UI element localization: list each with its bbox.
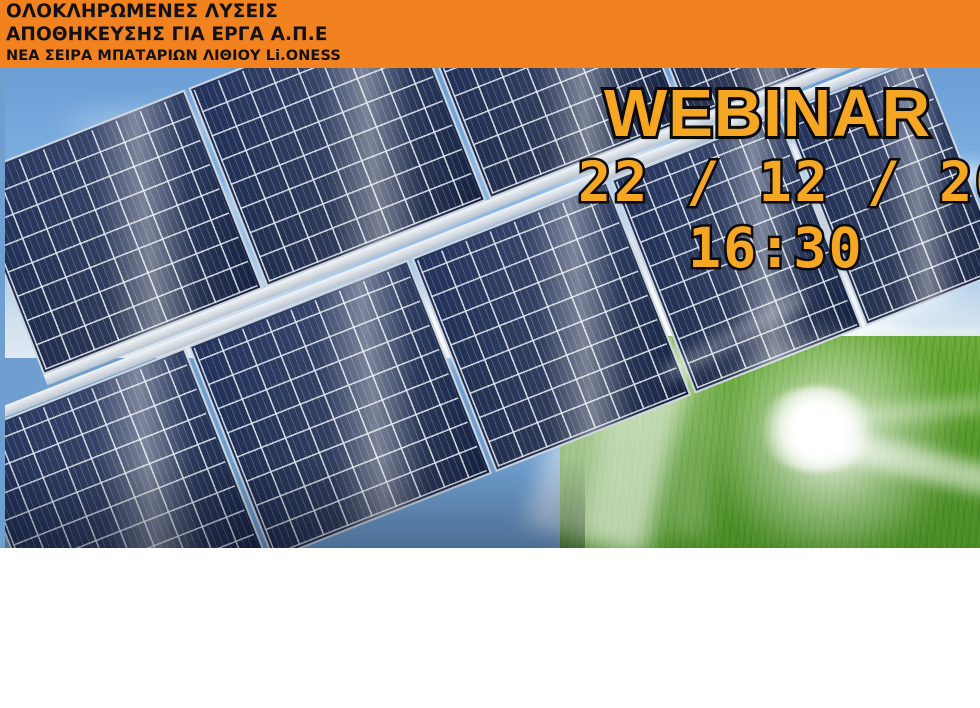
webinar-time: 16:30 <box>688 216 864 280</box>
webinar-poster: ΟΛΟΚΛΗΡΩΜΕΝΕΣ ΛΥΣΕΙΣ ΑΠΟΘΗΚΕΥΣΗΣ ΓΙΑ ΕΡΓ… <box>0 0 980 708</box>
webinar-date: 22 / 12 / 20 <box>578 150 980 214</box>
header-line-3: ΝΕΑ ΣΕΙΡΑ ΜΠΑΤΑΡΙΩΝ ΛΙΘΙΟΥ Li.ONESS <box>6 48 341 64</box>
webinar-title: WEBINAR <box>604 75 931 152</box>
header-line-1: ΟΛΟΚΛΗΡΩΜΕΝΕΣ ΛΥΣΕΙΣ <box>6 1 278 22</box>
hero-text-overlay: WEBINAR 22 / 12 / 20 16:30 <box>0 68 980 548</box>
header-line-2: ΑΠΟΘΗΚΕΥΣΗΣ ΓΙΑ ΕΡΓΑ Α.Π.Ε <box>6 24 328 45</box>
logo-footer: NA NO DO MI NanoDomi Συμβουλευτικές Υπηρ… <box>0 548 980 708</box>
header-banner: ΟΛΟΚΛΗΡΩΜΕΝΕΣ ΛΥΣΕΙΣ ΑΠΟΘΗΚΕΥΣΗΣ ΓΙΑ ΕΡΓ… <box>0 0 980 68</box>
